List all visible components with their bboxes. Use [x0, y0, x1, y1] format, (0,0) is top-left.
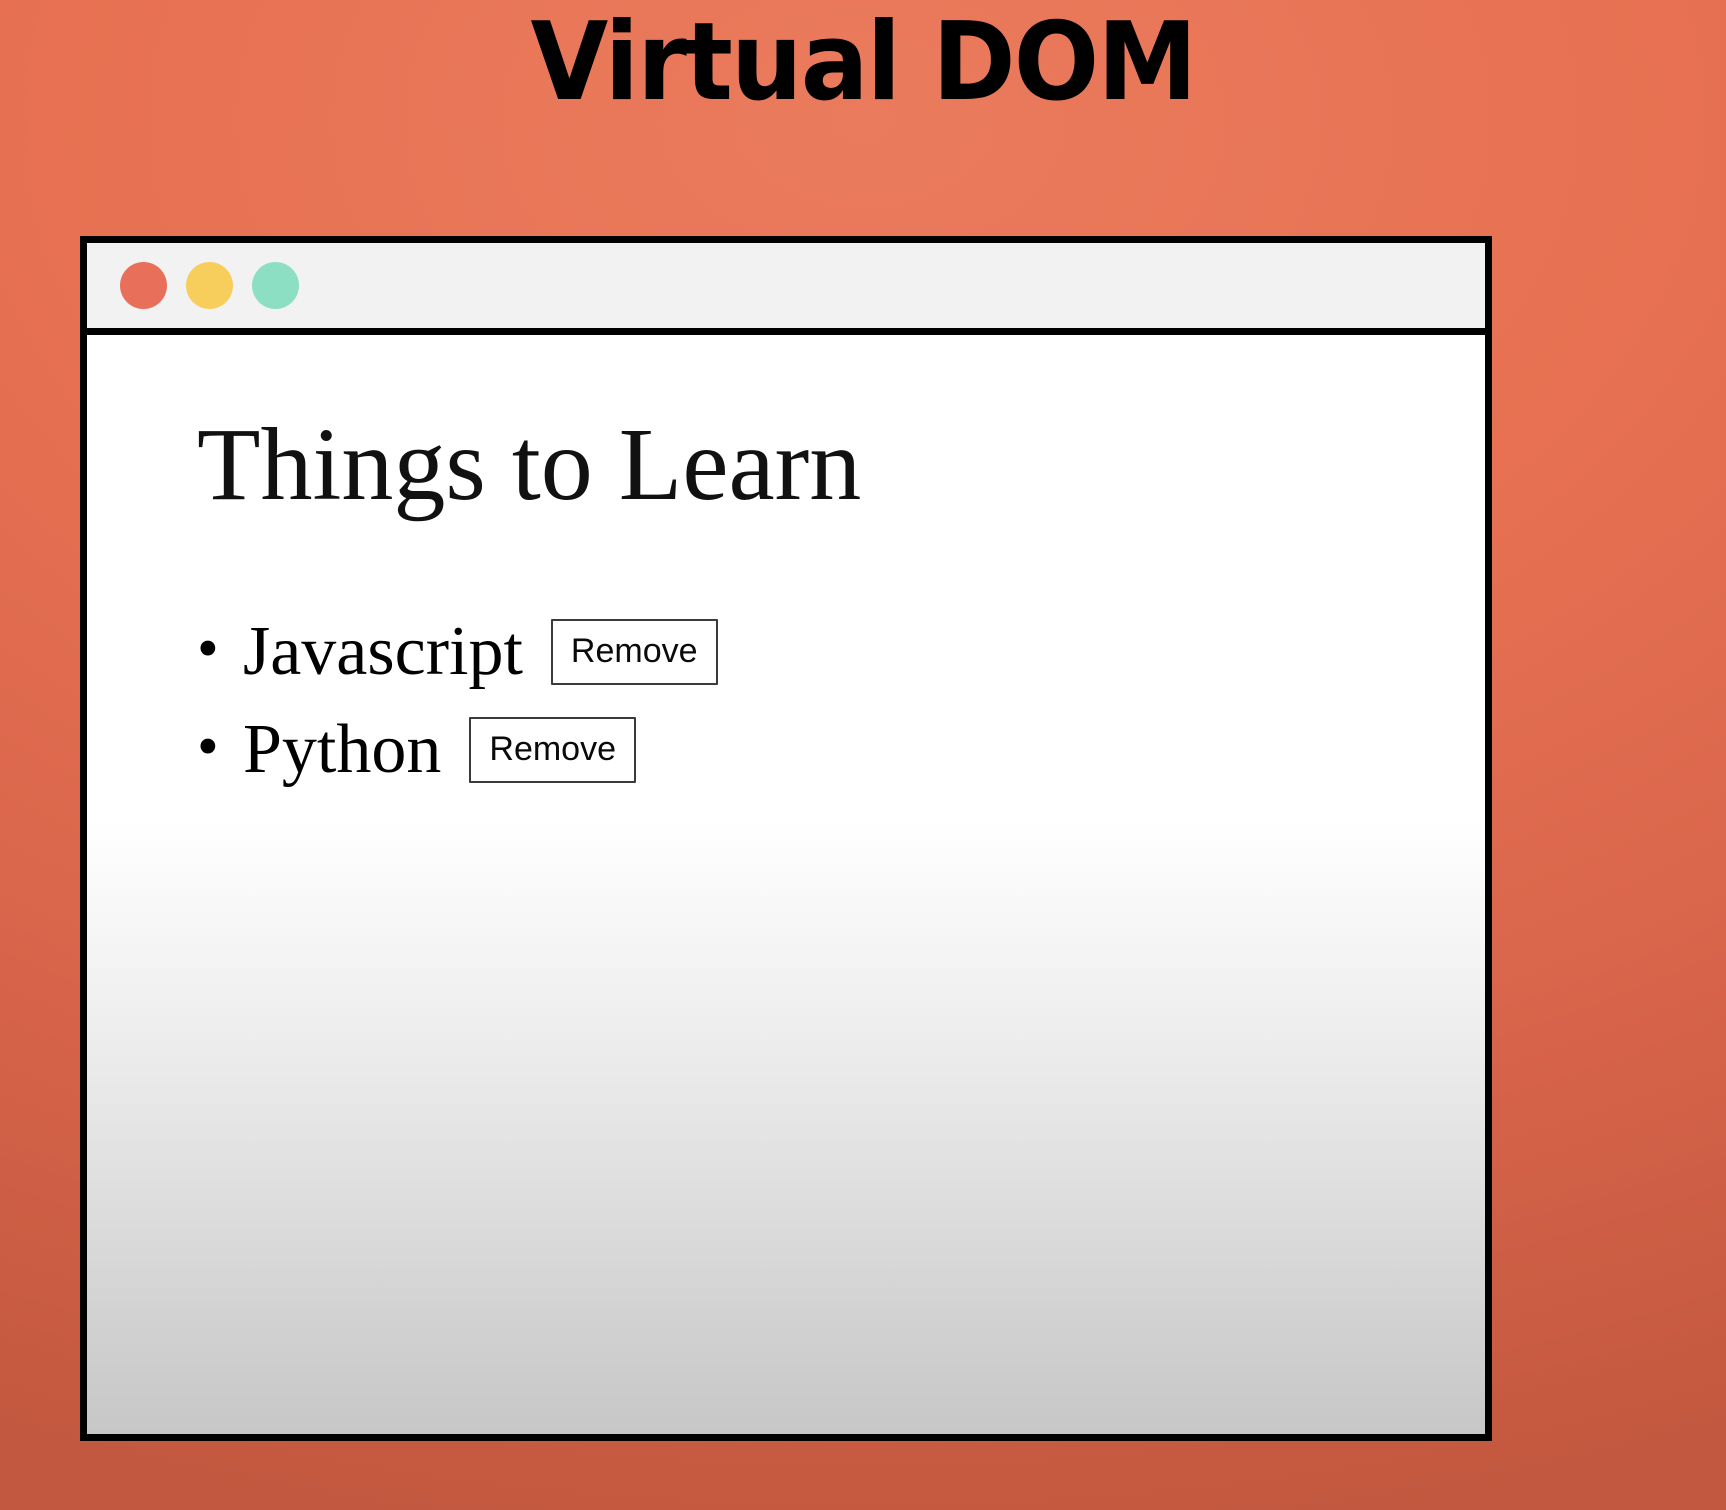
- list-item-label: Python: [243, 715, 441, 785]
- page-title: Things to Learn: [197, 407, 1485, 523]
- bullet-icon: •: [197, 618, 243, 680]
- bullet-icon: •: [197, 716, 243, 778]
- list-item: • Python Remove: [197, 701, 1485, 799]
- remove-button[interactable]: Remove: [469, 717, 636, 783]
- browser-window-mockup: Things to Learn • Javascript Remove • Py…: [80, 236, 1492, 1441]
- list-item: • Javascript Remove: [197, 603, 1485, 701]
- things-to-learn-list: • Javascript Remove • Python Remove: [197, 603, 1485, 799]
- browser-viewport: Things to Learn • Javascript Remove • Py…: [87, 335, 1485, 1434]
- remove-button[interactable]: Remove: [551, 619, 718, 685]
- close-window-dot-icon[interactable]: [120, 262, 167, 309]
- minimize-window-dot-icon[interactable]: [186, 262, 233, 309]
- maximize-window-dot-icon[interactable]: [252, 262, 299, 309]
- slide-title: Virtual DOM: [60, 6, 1665, 119]
- window-titlebar: [87, 243, 1485, 335]
- list-item-label: Javascript: [243, 617, 523, 687]
